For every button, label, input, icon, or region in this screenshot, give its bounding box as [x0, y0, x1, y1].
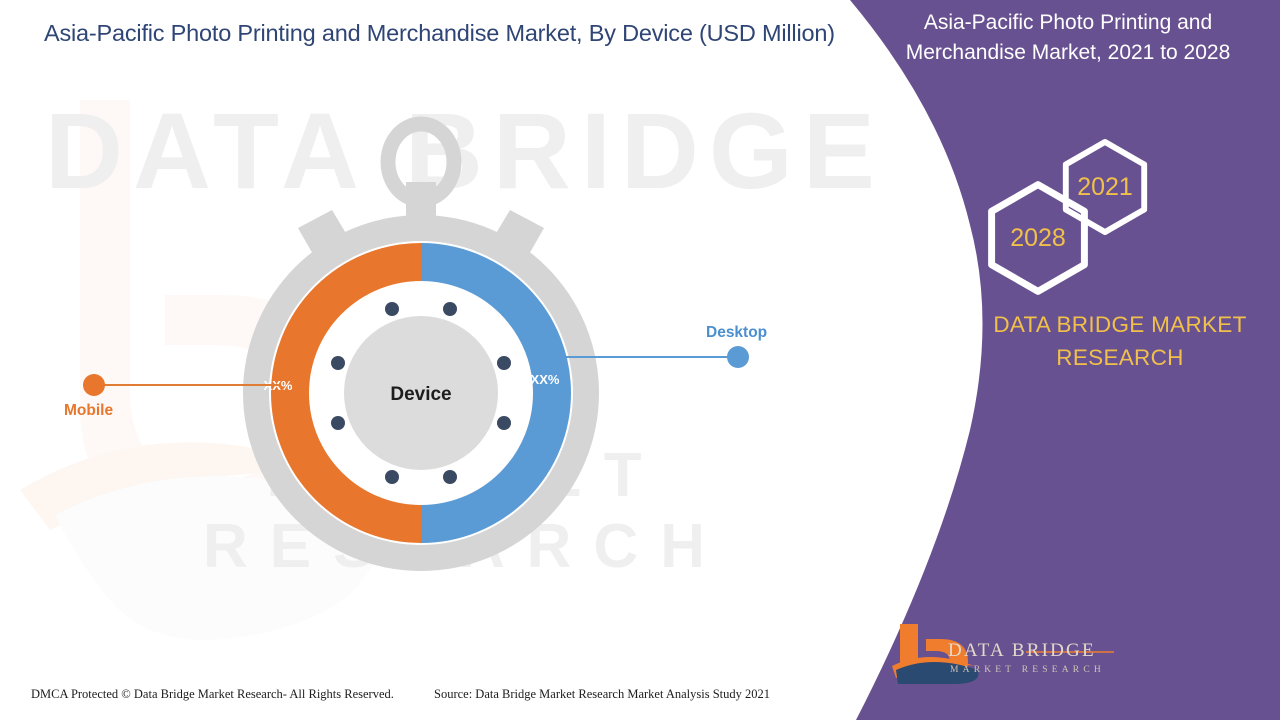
slice-value-desktop: XX%: [531, 372, 560, 387]
logo-text-bottom: MARKET RESEARCH: [950, 665, 1105, 675]
year-badge-2021-label: 2021: [1056, 138, 1154, 236]
marker-desktop[interactable]: [727, 346, 749, 368]
brand-name-line2: RESEARCH: [960, 341, 1280, 374]
legend-label-mobile[interactable]: Mobile: [64, 402, 113, 420]
marker-mobile[interactable]: [83, 374, 105, 396]
connector-mobile: [94, 384, 279, 386]
logo-text-top: DATA BRIDGE: [948, 640, 1096, 662]
brand-name: DATA BRIDGE MARKET RESEARCH: [960, 308, 1280, 374]
footer-source: Source: Data Bridge Market Research Mark…: [434, 687, 770, 702]
donut-center-label: Device: [390, 384, 451, 405]
brand-name-line1: DATA BRIDGE MARKET: [960, 308, 1280, 341]
panel-heading: Asia-Pacific Photo Printing and Merchand…: [856, 8, 1280, 68]
panel-heading-line2: Merchandise Market, 2021 to 2028: [856, 38, 1280, 68]
year-badge-2021[interactable]: 2021: [1056, 138, 1154, 236]
page-title: Asia-Pacific Photo Printing and Merchand…: [44, 20, 835, 47]
connector-desktop: [553, 356, 738, 358]
donut-chart: Device XX% XX%: [206, 110, 636, 600]
panel-heading-line1: Asia-Pacific Photo Printing and: [856, 8, 1280, 38]
footer-copyright: DMCA Protected © Data Bridge Market Rese…: [31, 687, 394, 702]
year-badges: 2028 2021: [980, 140, 1190, 270]
legend-label-desktop[interactable]: Desktop: [706, 324, 767, 342]
infographic-canvas: DATA BRIDGE MARKET RESEARCH Asia-Pacific…: [0, 0, 1280, 720]
